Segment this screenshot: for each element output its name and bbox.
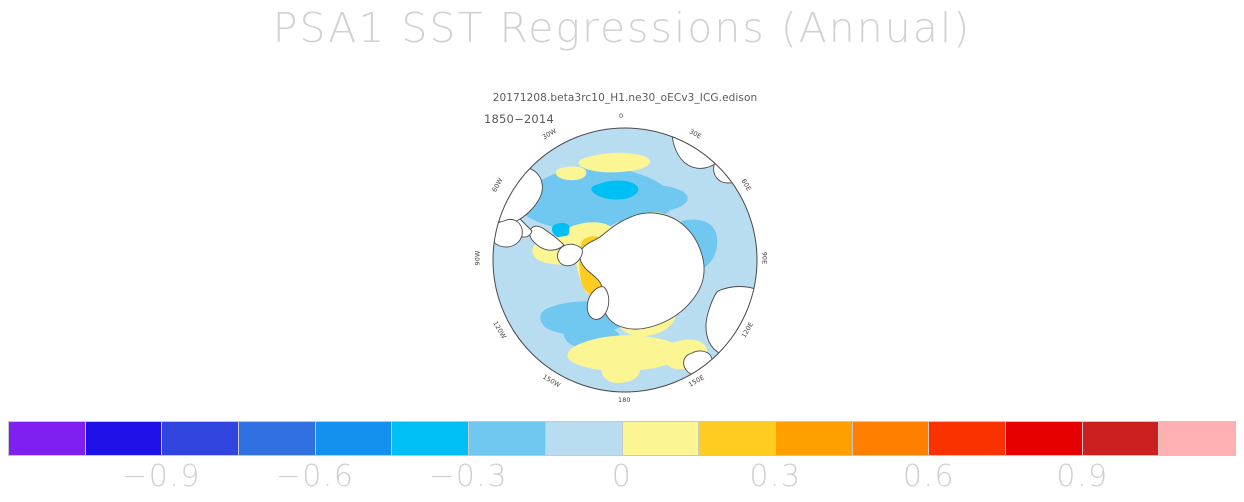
colorbar-segment-7 bbox=[546, 422, 623, 455]
case-name-label: 20171208.beta3rc10_H1.ne30_oECv3_ICG.edi… bbox=[430, 92, 820, 104]
colorbar: −0.9−0.6−0.300.30.60.9 bbox=[0, 419, 1244, 502]
colorbar-tick-0: −0.9 bbox=[122, 459, 201, 494]
colorbar-segment-15 bbox=[1159, 422, 1235, 455]
colorbar-segment-13 bbox=[1006, 422, 1083, 455]
colorbar-segment-1 bbox=[86, 422, 163, 455]
colorbar-segment-10 bbox=[776, 422, 853, 455]
plot-panel: 20171208.beta3rc10_H1.ne30_oECv3_ICG.edi… bbox=[430, 92, 820, 402]
colorbar-segment-5 bbox=[392, 422, 469, 455]
colorbar-segment-12 bbox=[929, 422, 1006, 455]
map-data-layer bbox=[486, 121, 764, 392]
colorbar-segment-8 bbox=[623, 422, 700, 455]
colorbar-segment-9 bbox=[699, 422, 776, 455]
colorbar-tick-6: 0.9 bbox=[1056, 459, 1108, 494]
lon-label-90w: 90W bbox=[473, 251, 481, 266]
colorbar-segment-6 bbox=[469, 422, 546, 455]
colorbar-segment-0 bbox=[9, 422, 86, 455]
colorbar-tick-labels: −0.9−0.6−0.300.30.60.9 bbox=[0, 459, 1244, 499]
polar-map: 0 30E 60E 90E 120E 150E 180 150W 120W 90… bbox=[486, 121, 764, 399]
colorbar-segments bbox=[8, 421, 1236, 456]
polar-map-svg bbox=[486, 121, 764, 399]
lon-label-180: 180 bbox=[618, 396, 631, 404]
colorbar-tick-3: 0 bbox=[612, 459, 633, 494]
colorbar-tick-5: 0.6 bbox=[903, 459, 955, 494]
colorbar-segment-3 bbox=[239, 422, 316, 455]
colorbar-tick-1: −0.6 bbox=[276, 459, 355, 494]
lon-label-0: 0 bbox=[619, 112, 623, 120]
colorbar-tick-2: −0.3 bbox=[429, 459, 508, 494]
colorbar-segment-2 bbox=[162, 422, 239, 455]
colorbar-segment-4 bbox=[316, 422, 393, 455]
colorbar-segment-14 bbox=[1083, 422, 1160, 455]
colorbar-tick-4: 0.3 bbox=[749, 459, 801, 494]
lon-label-90e: 90E bbox=[760, 252, 768, 265]
colorbar-segment-11 bbox=[853, 422, 930, 455]
page-title: PSA1 SST Regressions (Annual) bbox=[0, 4, 1244, 52]
